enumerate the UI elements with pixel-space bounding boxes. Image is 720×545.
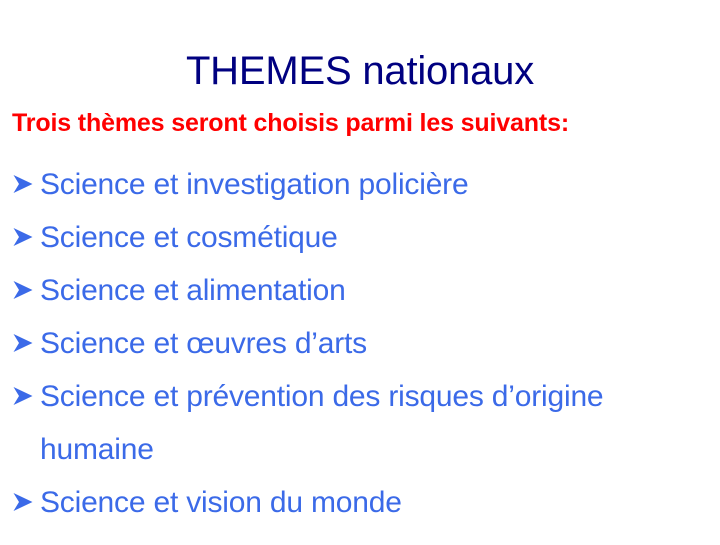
list-item: Science et œuvres d’arts [12,317,652,370]
arrow-bullet-icon [12,211,40,247]
arrow-bullet-icon [12,317,40,353]
list-item-label: Science et œuvres d’arts [40,317,652,370]
page-title: THEMES nationaux [0,48,720,94]
list-item-label: Science et alimentation [40,264,652,317]
list-item-label: Science et investigation policière [40,158,652,211]
list-item-label: Science et prévention des risques d’orig… [40,370,652,476]
themes-bullet-list: Science et investigation policière Scien… [12,158,652,529]
list-item: Science et cosmétique [12,211,652,264]
list-item: Science et vision du monde [12,476,652,529]
list-item-label: Science et cosmétique [40,211,652,264]
arrow-bullet-icon [12,264,40,300]
arrow-bullet-icon [12,370,40,406]
list-item: Science et alimentation [12,264,652,317]
arrow-bullet-icon [12,476,40,512]
slide-subtitle: Trois thèmes seront choisis parmi les su… [12,108,569,138]
list-item: Science et investigation policière [12,158,652,211]
list-item-label: Science et vision du monde [40,476,652,529]
arrow-bullet-icon [12,158,40,194]
list-item: Science et prévention des risques d’orig… [12,370,652,476]
slide-canvas: THEMES nationaux Trois thèmes seront cho… [0,0,720,545]
